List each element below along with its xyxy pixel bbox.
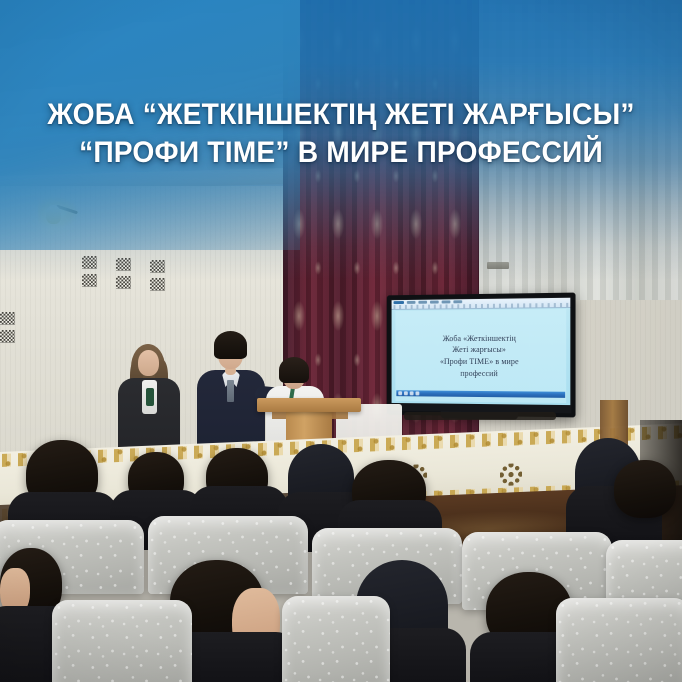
auditorium-seat [556, 598, 682, 682]
audience-head [614, 460, 676, 518]
checkered-wall-tile [150, 260, 165, 273]
face [138, 350, 159, 376]
checkered-wall-tile [116, 258, 131, 271]
wall-sconce-bulb-icon [46, 205, 61, 224]
checkered-wall-tile [82, 256, 97, 269]
hair [279, 357, 309, 383]
checkered-wall-tile [82, 274, 97, 287]
lectern-top [257, 398, 361, 412]
auditorium-seat [282, 596, 390, 682]
checkered-wall-tile [116, 276, 131, 289]
slide-line: Жеті жарғысы» [440, 344, 519, 356]
auditorium-seat [52, 600, 192, 682]
event-photo-card: Жоба «Жеткіншектің Жеті жарғысы» «Профи … [0, 0, 682, 682]
slide-text: Жоба «Жеткіншектің Жеті жарғысы» «Профи … [436, 333, 523, 380]
page-title: ЖОБА “ЖЕТКІНШЕКТІҢ ЖЕТІ ЖАРҒЫСЫ” “ПРОФИ … [20, 96, 661, 173]
display-screen: Жоба «Жеткіншектің Жеті жарғысы» «Профи … [392, 298, 571, 405]
wall-vent [487, 262, 509, 269]
necktie [227, 380, 234, 402]
hair [214, 331, 247, 359]
slide-line: профессий [440, 367, 519, 379]
kazakh-diamond-motif [500, 463, 522, 486]
checkered-wall-tile [0, 312, 15, 325]
title-line-2: “ПРОФИ TIME” В МИРЕ ПРОФЕССИЙ [35, 134, 646, 172]
checkered-wall-tile [150, 278, 165, 291]
display-base-shadow [404, 412, 556, 420]
slide-canvas: Жоба «Жеткіншектің Жеті жарғысы» «Профи … [395, 309, 566, 403]
presentation-display: Жоба «Жеткіншектің Жеті жарғысы» «Профи … [387, 293, 576, 418]
slide-line: Жоба «Жеткіншектің [440, 333, 519, 345]
title-line-1: ЖОБА “ЖЕТКІНШЕКТІҢ ЖЕТІ ЖАРҒЫСЫ” [47, 98, 634, 131]
necktie [146, 388, 154, 406]
taskbar-icons [398, 391, 419, 395]
checkered-wall-tile [0, 330, 15, 343]
slide-line: «Профи TIME» в мире [440, 356, 519, 368]
